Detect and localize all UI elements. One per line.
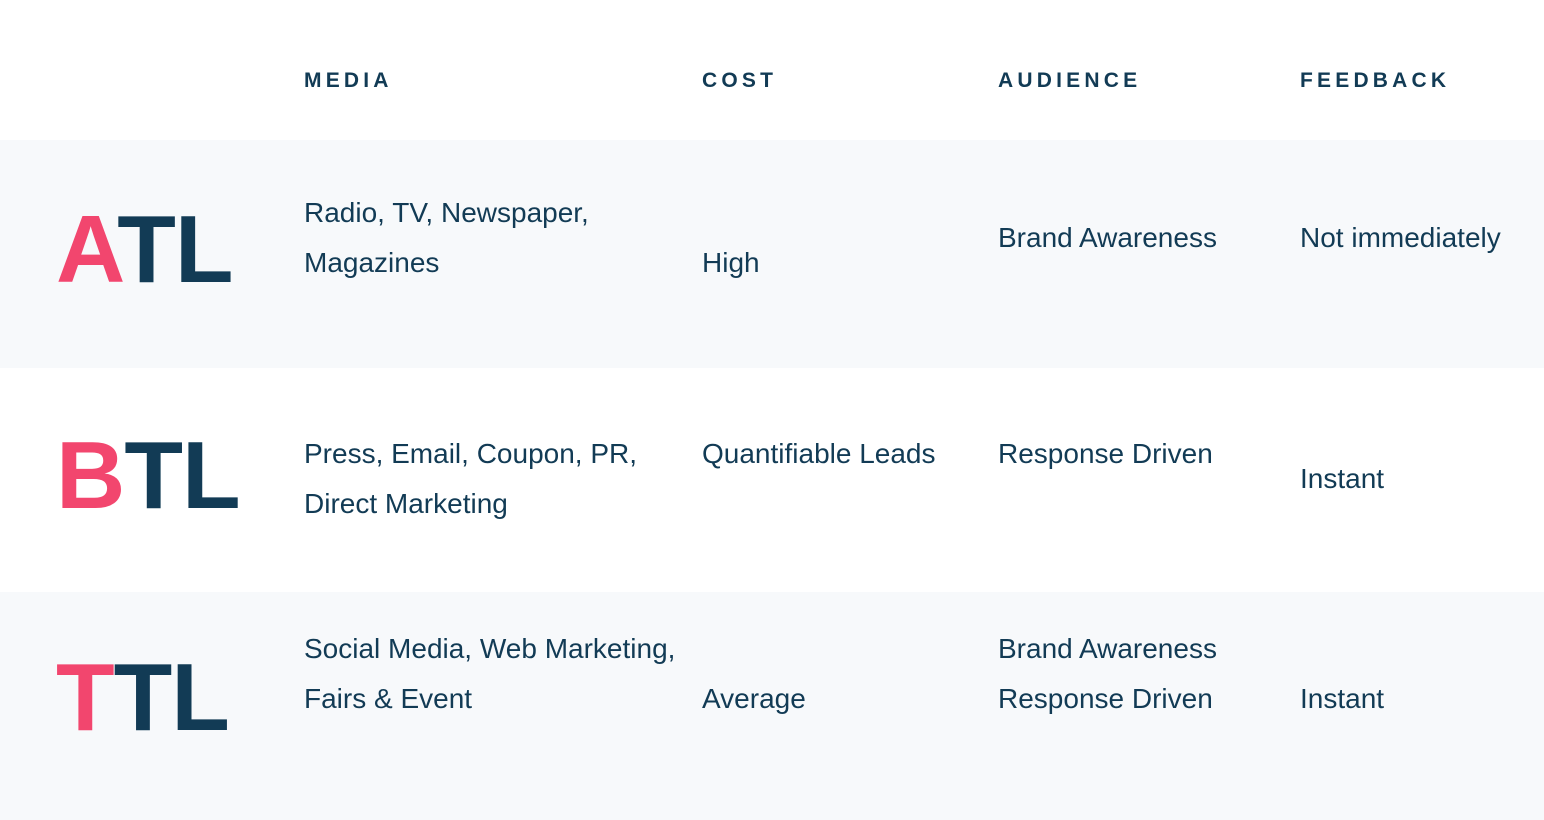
row-logo-ttl: TTL bbox=[56, 650, 304, 746]
cell-feedback: Instant bbox=[1300, 454, 1540, 504]
table-row: ATL Radio, TV, Newspaper, Magazines High… bbox=[0, 140, 1544, 368]
column-header-audience: AUDIENCE bbox=[998, 70, 1300, 91]
cell-cost: Average bbox=[702, 674, 992, 724]
column-header-cost: COST bbox=[702, 70, 998, 91]
table-row: BTL Press, Email, Coupon, PR, Direct Mar… bbox=[0, 368, 1544, 592]
column-header-feedback: FEEDBACK bbox=[1300, 70, 1544, 91]
cell-audience: Brand Awareness Response Driven bbox=[998, 624, 1294, 724]
cell-feedback: Instant bbox=[1300, 674, 1540, 724]
logo-base-letters: TL bbox=[124, 422, 239, 529]
row-logo-atl: ATL bbox=[56, 202, 304, 298]
cell-media: Press, Email, Coupon, PR, Direct Marketi… bbox=[304, 429, 696, 529]
comparison-table: MEDIA COST AUDIENCE FEEDBACK ATL Radio, … bbox=[0, 0, 1544, 820]
cell-cost: Quantifiable Leads bbox=[702, 429, 992, 479]
logo-accent-letter: A bbox=[56, 196, 117, 303]
table-row: TTL Social Media, Web Marketing, Fairs &… bbox=[0, 592, 1544, 820]
table-header-row: MEDIA COST AUDIENCE FEEDBACK bbox=[0, 0, 1544, 140]
cell-audience: Brand Awareness bbox=[998, 213, 1294, 263]
row-logo-btl: BTL bbox=[56, 428, 304, 524]
cell-media: Social Media, Web Marketing, Fairs & Eve… bbox=[304, 624, 696, 724]
logo-base-letters: TL bbox=[114, 644, 229, 751]
cell-audience: Response Driven bbox=[998, 429, 1294, 479]
logo-base-letters: TL bbox=[117, 196, 232, 303]
cell-media: Radio, TV, Newspaper, Magazines bbox=[304, 188, 696, 288]
cell-cost: High bbox=[702, 238, 992, 288]
logo-accent-letter: B bbox=[56, 422, 124, 529]
cell-feedback: Not immediately bbox=[1300, 213, 1540, 263]
column-header-media: MEDIA bbox=[304, 70, 702, 91]
logo-accent-letter: T bbox=[56, 644, 114, 751]
